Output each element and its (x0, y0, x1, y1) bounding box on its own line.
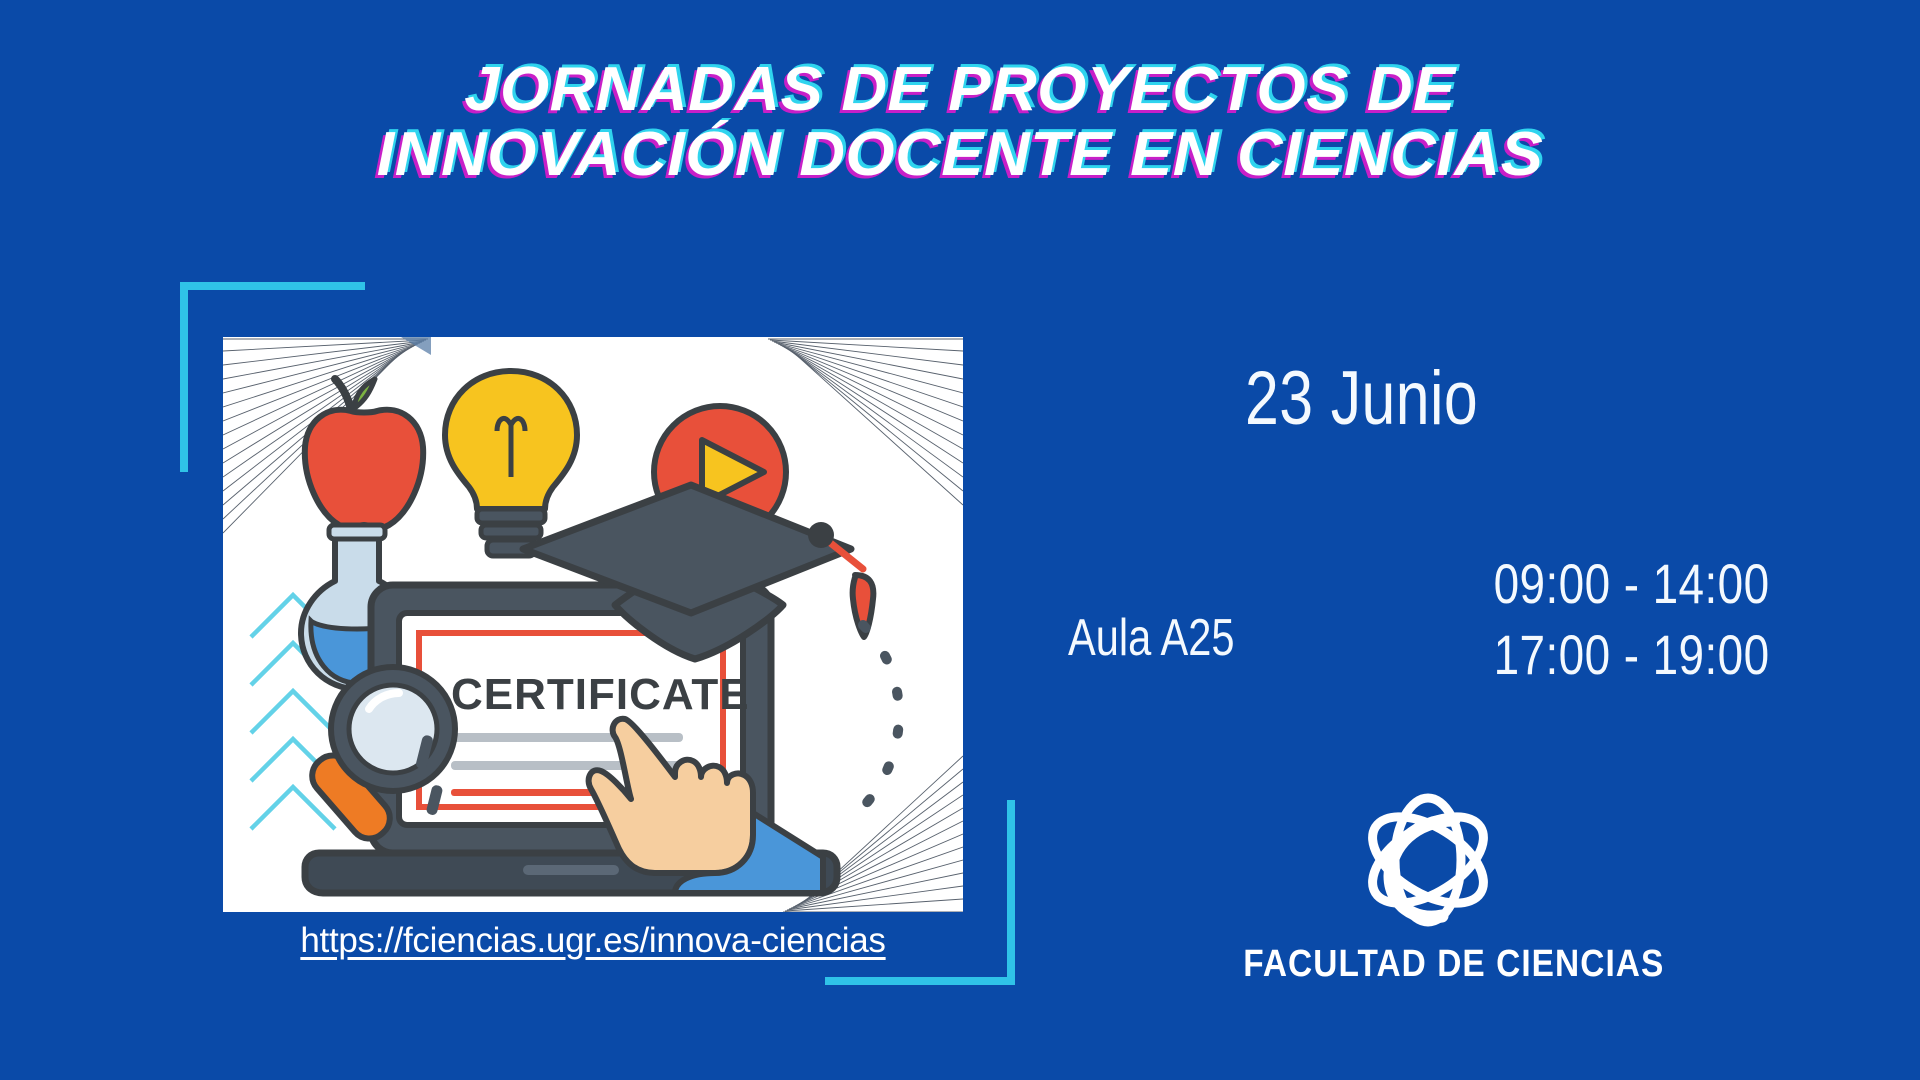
event-date: 23 Junio (1245, 355, 1478, 442)
event-url-link[interactable]: https://fciencias.ugr.es/innova-ciencias (223, 921, 963, 961)
title-line-2: INNOVACIÓN DOCENTE EN CIENCIAS (0, 123, 1920, 186)
certificate-label: CERTIFICATE (451, 670, 750, 719)
event-room: Aula A25 (1068, 608, 1235, 668)
bracket-vertical-segment (180, 282, 188, 472)
faculty-logo-caption: FACULTAD DE CIENCIAS (1243, 943, 1613, 986)
event-times: 09:00 - 14:00 17:00 - 19:00 (1436, 548, 1756, 690)
faculty-logo-block: FACULTAD DE CIENCIAS (1218, 790, 1638, 986)
event-time-morning: 09:00 - 14:00 (1494, 548, 1756, 619)
bracket-vertical-segment (1007, 800, 1015, 985)
education-illustration: CERTIFICATE (223, 337, 963, 912)
title-line-1: JORNADAS DE PROYECTOS DE (0, 58, 1920, 121)
bracket-horizontal-segment (180, 282, 365, 290)
atom-orbital-icon (1218, 790, 1638, 935)
event-time-afternoon: 17:00 - 19:00 (1494, 619, 1756, 690)
poster-canvas: JORNADAS DE PROYECTOS DE INNOVACIÓN DOCE… (0, 0, 1920, 1080)
bracket-horizontal-segment (825, 977, 1015, 985)
poster-title: JORNADAS DE PROYECTOS DE INNOVACIÓN DOCE… (0, 58, 1920, 186)
